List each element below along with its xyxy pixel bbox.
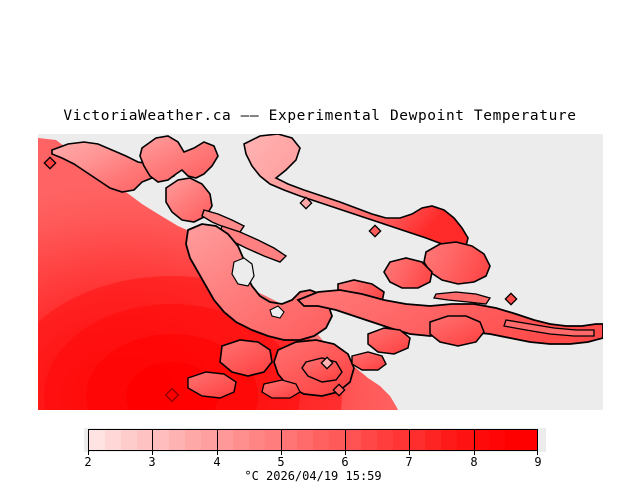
colorbar-band xyxy=(473,430,489,450)
colorbar-band xyxy=(329,430,345,450)
colorbar-band xyxy=(153,430,169,450)
colorbar-band xyxy=(201,430,217,450)
colorbar-divider xyxy=(345,429,346,451)
colorbar-gradient[interactable] xyxy=(88,429,538,451)
page-title: VictoriaWeather.ca —— Experimental Dewpo… xyxy=(0,108,640,124)
colorbar-band xyxy=(249,430,265,450)
colorbar-divider xyxy=(281,429,282,451)
colorbar-tick-label: 2 xyxy=(84,455,91,469)
colorbar-band xyxy=(489,430,505,450)
colorbar-band xyxy=(121,430,137,450)
colorbar-band xyxy=(105,430,121,450)
colorbar-band xyxy=(505,430,521,450)
colorbar-divider xyxy=(217,429,218,451)
colorbar-band xyxy=(217,430,233,450)
colorbar-tick-label: 5 xyxy=(277,455,284,469)
colorbar-tick-label: 4 xyxy=(213,455,220,469)
map-plot-area[interactable] xyxy=(38,134,603,410)
colorbar-tick-label: 7 xyxy=(405,455,412,469)
colorbar-tick-label: 9 xyxy=(534,455,541,469)
colorbar-band xyxy=(377,430,393,450)
colorbar-caption: °C 2026/04/19 15:59 xyxy=(88,469,538,483)
colorbar-divider xyxy=(152,429,153,451)
colorbar-tick-label: 3 xyxy=(148,455,155,469)
colorbar-divider xyxy=(409,429,410,451)
colorbar-band xyxy=(441,430,457,450)
colorbar-band xyxy=(345,430,361,450)
colorbar-divider xyxy=(537,429,538,451)
colorbar-band xyxy=(233,430,249,450)
colorbar-band xyxy=(425,430,441,450)
colorbar-band xyxy=(457,430,473,450)
colorbar-band xyxy=(313,430,329,450)
weather-map-page: VictoriaWeather.ca —— Experimental Dewpo… xyxy=(0,0,640,480)
colorbar-band xyxy=(281,430,297,450)
colorbar-band xyxy=(169,430,185,450)
colorbar-tick-label: 8 xyxy=(470,455,477,469)
colorbar-band xyxy=(393,430,409,450)
colorbar-band xyxy=(521,430,537,450)
colorbar-band xyxy=(89,430,105,450)
colorbar-divider xyxy=(474,429,475,451)
colorbar-band xyxy=(297,430,313,450)
colorbar-band xyxy=(361,430,377,450)
colorbar-tick-label: 6 xyxy=(341,455,348,469)
colorbar-band xyxy=(265,430,281,450)
colorbar-band xyxy=(137,430,153,450)
colorbar-band xyxy=(409,430,425,450)
colorbar-legend: 23456789 °C 2026/04/19 15:59 xyxy=(88,429,538,480)
dewpoint-contour-map[interactable] xyxy=(38,134,603,410)
colorbar-band xyxy=(185,430,201,450)
